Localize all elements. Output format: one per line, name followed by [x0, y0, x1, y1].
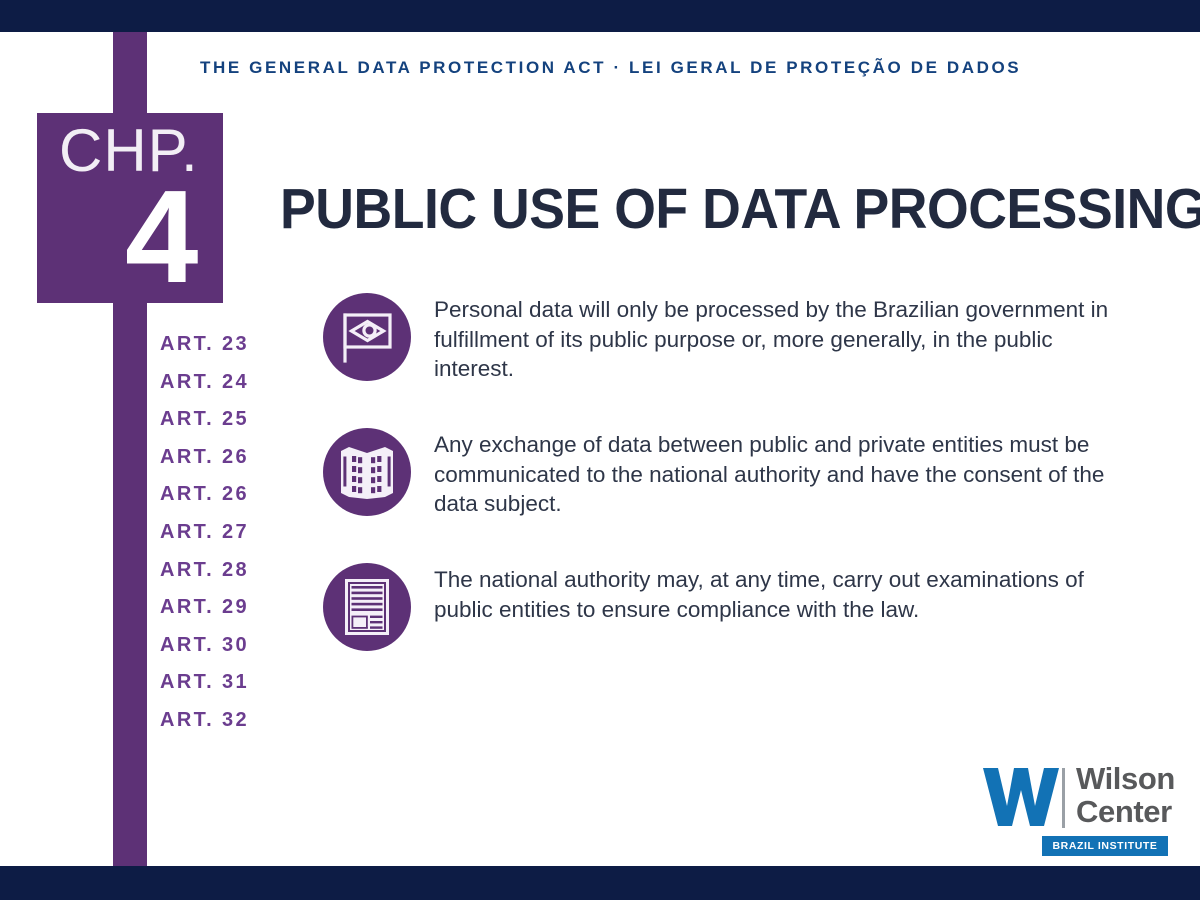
article-list-item: ART. 23 — [160, 326, 310, 364]
chapter-number: 4 — [125, 171, 198, 303]
logo-wordmark: Wilson Center — [1076, 762, 1175, 828]
bullet-row: Any exchange of data between public and … — [323, 428, 1113, 563]
article-list-item: ART. 26 — [160, 439, 310, 477]
logo-sub-label: BRAZIL INSTITUTE — [1042, 836, 1168, 856]
article-list-item: ART. 29 — [160, 589, 310, 627]
article-list-item: ART. 32 — [160, 702, 310, 740]
bullet-text: Any exchange of data between public and … — [434, 430, 1109, 519]
bullet-text: The national authority may, at any time,… — [434, 565, 1109, 624]
page-title: PUBLIC USE OF DATA PROCESSING — [280, 176, 1200, 242]
logo-name-line-2: Center — [1076, 795, 1175, 828]
eyebrow-subtitle: THE GENERAL DATA PROTECTION ACT · LEI GE… — [200, 58, 1021, 78]
article-list-item: ART. 31 — [160, 664, 310, 702]
chapter-badge: CHP. 4 — [37, 113, 223, 303]
bullet-row: Personal data will only be processed by … — [323, 293, 1113, 428]
infographic-slide: CHP. 4 THE GENERAL DATA PROTECTION ACT ·… — [0, 0, 1200, 900]
brazil-flag-icon — [323, 293, 411, 381]
logo-divider — [1062, 768, 1065, 828]
article-list-item: ART. 28 — [160, 552, 310, 590]
top-navy-band — [0, 0, 1200, 32]
wilson-center-logo: Wilson Center BRAZIL INSTITUTE — [980, 766, 1188, 856]
logo-row: Wilson Center — [980, 766, 1188, 832]
office-building-icon — [323, 428, 411, 516]
bottom-navy-band — [0, 866, 1200, 900]
bullet-row: The national authority may, at any time,… — [323, 563, 1113, 698]
bullet-list: Personal data will only be processed by … — [323, 293, 1113, 698]
wilson-w-icon — [982, 766, 1060, 833]
article-list-item: ART. 25 — [160, 401, 310, 439]
article-list: ART. 23 ART. 24 ART. 25 ART. 26 ART. 26 … — [160, 326, 310, 740]
article-list-item: ART. 27 — [160, 514, 310, 552]
bullet-text: Personal data will only be processed by … — [434, 295, 1109, 384]
article-list-item: ART. 26 — [160, 476, 310, 514]
article-list-item: ART. 24 — [160, 364, 310, 402]
logo-sub-bar: BRAZIL INSTITUTE — [1042, 836, 1168, 856]
logo-name-line-1: Wilson — [1076, 762, 1175, 795]
article-list-item: ART. 30 — [160, 627, 310, 665]
document-icon — [323, 563, 411, 651]
